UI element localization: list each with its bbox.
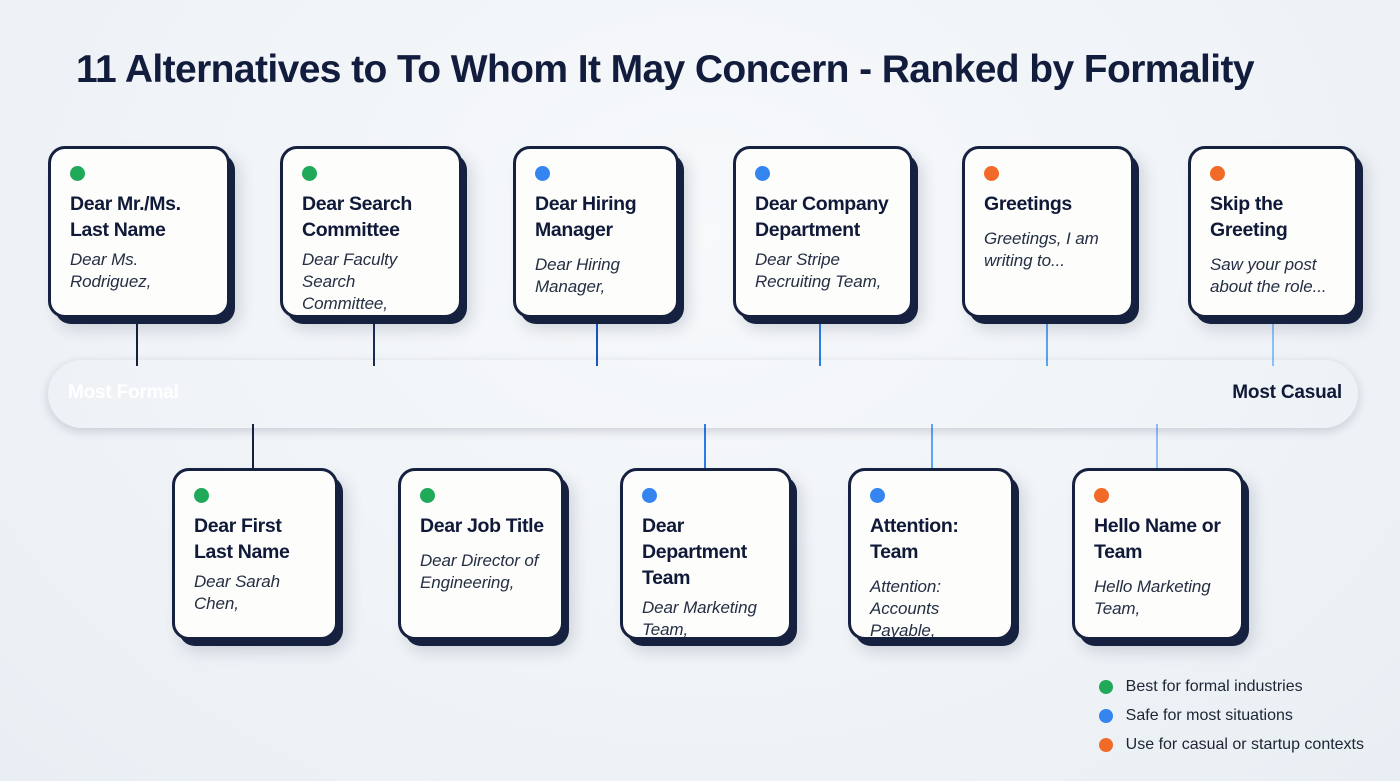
alternative-card[interactable]: Attention: TeamAttention: Accounts Payab… [848,468,1014,640]
infographic-canvas: 11 Alternatives to To Whom It May Concer… [0,0,1400,781]
card-title: Dear First Last Name [194,513,318,565]
alternative-card[interactable]: Dear Mr./Ms. Last NameDear Ms. Rodriguez… [48,146,230,318]
alternative-card[interactable]: Dear Company DepartmentDear Stripe Recru… [733,146,913,318]
card-example-text: Attention: Accounts Payable, [870,576,994,640]
card-connector-line [1046,318,1048,366]
card-example-text: Dear Stripe Recruiting Team, [755,249,893,293]
card-title: Dear Department Team [642,513,772,591]
card-connector-line [373,318,375,366]
formality-spectrum-bar [48,360,1358,428]
alternative-card[interactable]: GreetingsGreetings, I am writing to... [962,146,1134,318]
page-title: 11 Alternatives to To Whom It May Concer… [76,44,1336,96]
spectrum-label-most-formal: Most Formal [68,382,179,404]
card-title: Dear Hiring Manager [535,191,659,243]
legend-label: Use for casual or startup contexts [1126,736,1364,754]
blue-status-dot-icon [755,166,770,181]
card-title: Dear Job Title [420,513,544,539]
orange-status-dot-icon [1210,166,1225,181]
card-connector-line [1272,318,1274,366]
orange-legend-dot-icon [1099,738,1113,752]
card-title: Dear Company Department [755,191,893,243]
card-title: Hello Name or Team [1094,513,1224,565]
card-title: Greetings [984,191,1114,217]
card-connector-line [252,424,254,470]
card-connector-line [477,424,479,470]
alternative-card[interactable]: Dear Hiring ManagerDear Hiring Manager, [513,146,679,318]
alternative-card[interactable]: Dear Job TitleDear Director of Engineeri… [398,468,564,640]
alternative-card[interactable]: Dear Department TeamDear Marketing Team, [620,468,792,640]
card-title: Skip the Greeting [1210,191,1338,243]
card-connector-line [1156,424,1158,470]
card-title: Attention: Team [870,513,994,565]
green-status-dot-icon [70,166,85,181]
blue-status-dot-icon [642,488,657,503]
alternative-card[interactable]: Hello Name or TeamHello Marketing Team, [1072,468,1244,640]
card-title: Dear Mr./Ms. Last Name [70,191,210,243]
alternative-card[interactable]: Skip the GreetingSaw your post about the… [1188,146,1358,318]
blue-status-dot-icon [870,488,885,503]
card-title: Dear Search Committee [302,191,442,243]
green-status-dot-icon [302,166,317,181]
card-connector-line [136,318,138,366]
spectrum-label-most-casual: Most Casual [1232,382,1342,404]
legend-item: Use for casual or startup contexts [1099,736,1364,754]
card-example-text: Hello Marketing Team, [1094,576,1224,620]
card-example-text: Dear Marketing Team, [642,597,772,640]
card-example-text: Dear Sarah Chen, [194,571,318,615]
card-connector-line [596,318,598,366]
card-connector-line [931,424,933,470]
card-example-text: Greetings, I am writing to... [984,228,1114,272]
card-example-text: Dear Ms. Rodriguez, [70,249,210,293]
blue-status-dot-icon [535,166,550,181]
legend-label: Best for formal industries [1126,678,1303,696]
orange-status-dot-icon [984,166,999,181]
legend-item: Safe for most situations [1099,707,1364,725]
green-status-dot-icon [194,488,209,503]
card-example-text: Saw your post about the role... [1210,254,1338,298]
card-example-text: Dear Director of Engineering, [420,550,544,594]
alternative-card[interactable]: Dear First Last NameDear Sarah Chen, [172,468,338,640]
green-status-dot-icon [420,488,435,503]
card-example-text: Dear Hiring Manager, [535,254,659,298]
card-connector-line [704,424,706,470]
alternative-card[interactable]: Dear Search CommitteeDear Faculty Search… [280,146,462,318]
card-connector-line [819,318,821,366]
legend: Best for formal industriesSafe for most … [1099,678,1364,754]
legend-label: Safe for most situations [1126,707,1293,725]
orange-status-dot-icon [1094,488,1109,503]
green-legend-dot-icon [1099,680,1113,694]
legend-item: Best for formal industries [1099,678,1364,696]
card-example-text: Dear Faculty Search Committee, [302,249,442,315]
blue-legend-dot-icon [1099,709,1113,723]
